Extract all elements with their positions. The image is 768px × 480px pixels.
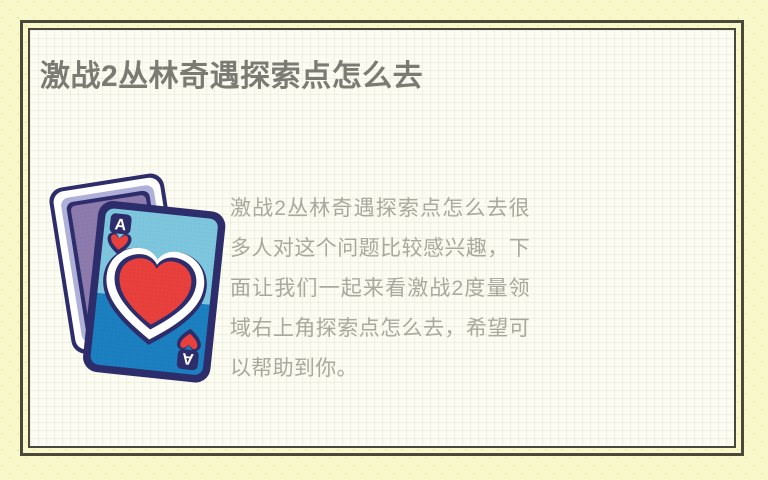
article-body-text: 激战2丛林奇遇探索点怎么去很多人对这个问题比较感兴趣，下面让我们一起来看激战2度… — [230, 189, 530, 389]
rank-letter-bottom: A — [181, 349, 195, 367]
card-ace-of-hearts: A A — [82, 200, 227, 384]
page-title: 激战2丛林奇遇探索点怎么去 — [40, 60, 423, 94]
rank-letter-top: A — [114, 216, 128, 234]
playing-cards-illustration: A A — [22, 165, 232, 400]
